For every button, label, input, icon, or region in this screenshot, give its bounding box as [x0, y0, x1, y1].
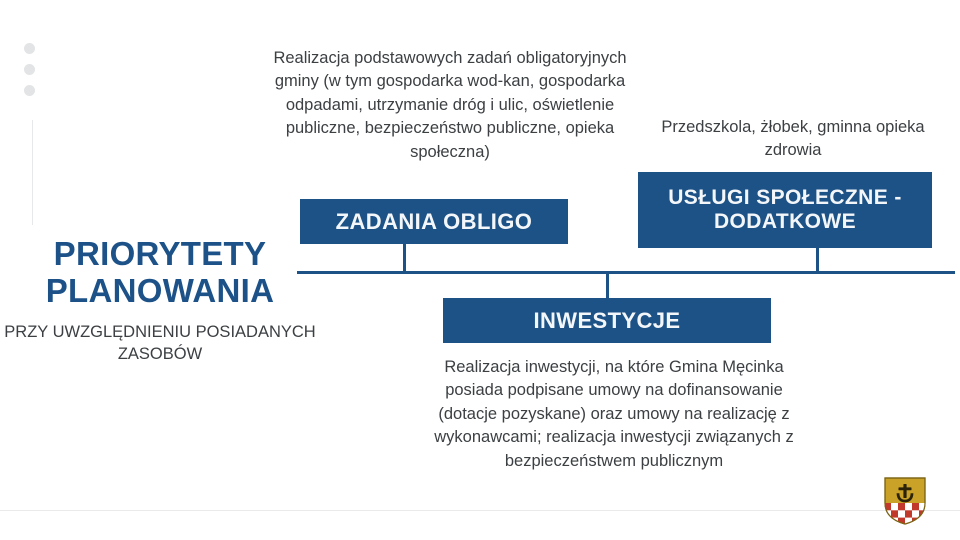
- dot-icon: [24, 64, 35, 75]
- page-title-line-1: PRIORYTETY: [54, 235, 267, 272]
- description-zadania-obligo: Realizacja podstawowych zadań obligatory…: [258, 47, 642, 164]
- coat-of-arms-icon: [884, 477, 926, 525]
- connector-stub-inwestycje: [606, 272, 609, 299]
- footer-divider: [0, 510, 960, 511]
- slide-canvas: PRIORYTETY PLANOWANIA PRZY UWZGLĘDNIENIU…: [0, 0, 960, 540]
- connector-stub-uslugi-spoleczne: [816, 247, 819, 272]
- connector-horizontal-trunk: [297, 271, 955, 274]
- connector-stub-zadania-obligo: [403, 243, 406, 272]
- node-zadania-obligo-label: ZADANIA OBLIGO: [336, 209, 533, 235]
- page-title-line-2: PLANOWANIA: [46, 272, 275, 309]
- description-inwestycje: Realizacja inwestycji, na które Gmina Mę…: [425, 356, 803, 473]
- description-uslugi-spoleczne: Przedszkola, żłobek, gminna opieka zdrow…: [655, 116, 931, 163]
- page-subtitle: PRZY UWZGLĘDNIENIU POSIADANYCH ZASOBÓW: [0, 322, 320, 366]
- page-title-block: PRIORYTETY PLANOWANIA PRZY UWZGLĘDNIENIU…: [0, 236, 320, 365]
- page-title: PRIORYTETY PLANOWANIA: [0, 236, 320, 310]
- node-uslugi-spoleczne[interactable]: USŁUGI SPOŁECZNE - DODATKOWE: [638, 172, 932, 248]
- dot-icon: [24, 85, 35, 96]
- node-uslugi-spoleczne-label: USŁUGI SPOŁECZNE - DODATKOWE: [638, 186, 932, 235]
- decorative-vertical-rule: [32, 120, 33, 225]
- node-inwestycje[interactable]: INWESTYCJE: [443, 298, 771, 343]
- node-zadania-obligo[interactable]: ZADANIA OBLIGO: [300, 199, 568, 244]
- node-inwestycje-label: INWESTYCJE: [533, 308, 680, 334]
- decorative-dots: [24, 43, 40, 106]
- dot-icon: [24, 43, 35, 54]
